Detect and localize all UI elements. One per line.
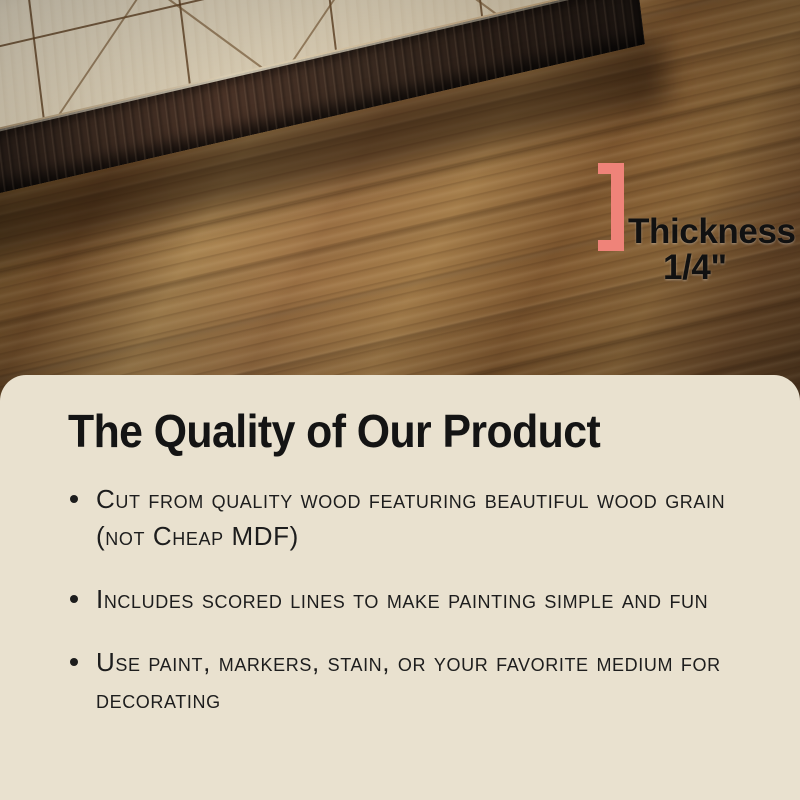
bracket-stem bbox=[611, 163, 624, 251]
bullet-dot-icon bbox=[70, 595, 78, 603]
list-item-label: Cut from quality wood featuring beautifu… bbox=[96, 484, 725, 551]
quality-info-panel: The Quality of Our Product Cut from qual… bbox=[0, 375, 800, 800]
bracket-bottom-cap bbox=[598, 240, 624, 251]
photo-vignette bbox=[0, 0, 800, 400]
thickness-bracket-icon bbox=[598, 163, 624, 251]
list-item: Cut from quality wood featuring beautifu… bbox=[68, 481, 748, 555]
bullet-dot-icon bbox=[70, 495, 78, 503]
product-photo bbox=[0, 0, 800, 400]
thickness-value: 1/4" bbox=[663, 248, 727, 288]
panel-title: The Quality of Our Product bbox=[68, 407, 700, 455]
bullet-dot-icon bbox=[70, 658, 78, 666]
list-item: Use paint, markers, stain, or your favor… bbox=[68, 644, 748, 718]
thickness-label: Thickness bbox=[628, 212, 796, 252]
product-feature-graphic: Thickness 1/4" The Quality of Our Produc… bbox=[0, 0, 800, 800]
quality-bullet-list: Cut from quality wood featuring beautifu… bbox=[68, 481, 748, 718]
list-item: Includes scored lines to make painting s… bbox=[68, 581, 748, 618]
list-item-label: Includes scored lines to make painting s… bbox=[96, 584, 708, 614]
list-item-label: Use paint, markers, stain, or your favor… bbox=[96, 647, 721, 714]
